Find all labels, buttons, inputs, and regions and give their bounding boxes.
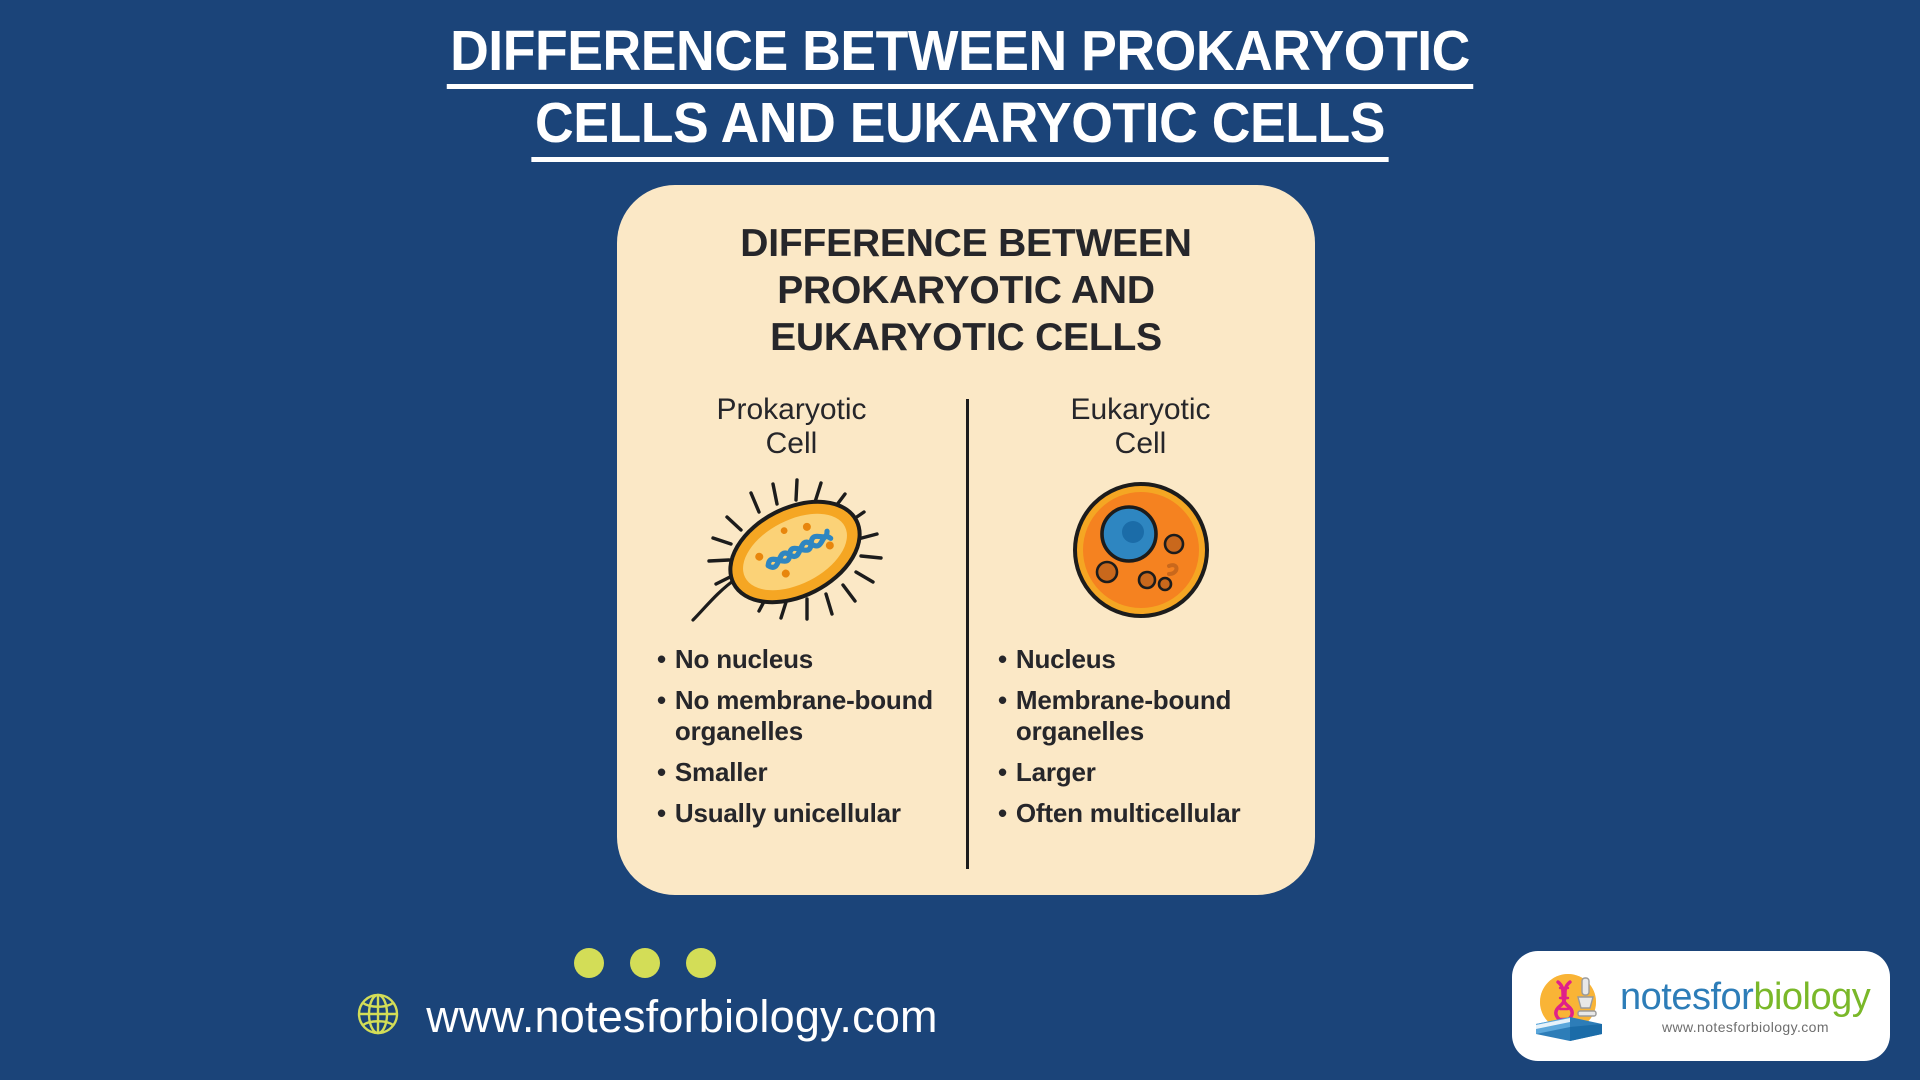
card-title-line-2: PROKARYOTIC AND [663, 267, 1269, 314]
logo-wordmark: notesforbiology www.notesforbiology.com [1620, 978, 1870, 1034]
list-item: • Membrane-bound organelles [998, 685, 1301, 745]
column-heading-line-2: Cell [1070, 427, 1210, 461]
dot-icon [686, 948, 716, 978]
list-item-label: Membrane-bound organelles [1016, 685, 1301, 745]
infographic-canvas: DIFFERENCE BETWEEN PROKARYOTIC CELLS AND… [0, 0, 1920, 1080]
column-prokaryotic: Prokaryotic Cell [617, 393, 966, 873]
card-title-line-1: DIFFERENCE BETWEEN [663, 220, 1269, 267]
bullet-list-eukaryotic: • Nucleus • Membrane-bound organelles • … [966, 644, 1315, 839]
bullet-dot-icon: • [998, 685, 1007, 715]
list-item: • Usually unicellular [657, 798, 952, 828]
bullet-dot-icon: • [998, 644, 1007, 674]
bullet-dot-icon: • [998, 757, 1007, 787]
column-heading-line-1: Prokaryotic [716, 393, 866, 427]
list-item: • No nucleus [657, 644, 952, 674]
comparison-columns: Prokaryotic Cell [617, 393, 1315, 873]
bullet-dot-icon: • [657, 685, 666, 715]
list-item-label: Larger [1016, 757, 1096, 787]
bullet-list-prokaryotic: • No nucleus • No membrane-bound organel… [617, 644, 966, 839]
list-item-label: Smaller [675, 757, 768, 787]
page-title: DIFFERENCE BETWEEN PROKARYOTIC CELLS AND… [58, 22, 1863, 162]
logo-subtext: www.notesforbiology.com [1662, 1020, 1870, 1034]
column-heading-line-1: Eukaryotic [1070, 393, 1210, 427]
brand-logo[interactable]: notesforbiology www.notesforbiology.com [1512, 951, 1890, 1061]
column-heading-eukaryotic: Eukaryotic Cell [1070, 393, 1210, 460]
comparison-card: DIFFERENCE BETWEEN PROKARYOTIC AND EUKAR… [617, 185, 1315, 895]
list-item-label: Usually unicellular [675, 798, 901, 828]
card-title: DIFFERENCE BETWEEN PROKARYOTIC AND EUKAR… [663, 220, 1269, 362]
logo-word-part-1: notesfor [1620, 976, 1753, 1018]
site-url-label[interactable]: www.notesforbiology.com [426, 991, 938, 1043]
page-title-line-2: CELLS AND EUKARYOTIC CELLS [531, 94, 1389, 161]
list-item: • Often multicellular [998, 798, 1301, 828]
decorative-dots [0, 948, 1290, 978]
logo-word-part-2: biology [1753, 976, 1870, 1018]
bullet-dot-icon: • [657, 757, 666, 787]
site-url-row: www.notesforbiology.com [0, 988, 1290, 1045]
column-heading-line-2: Cell [716, 427, 866, 461]
list-item-label: No nucleus [675, 644, 813, 674]
card-title-line-3: EUKARYOTIC CELLS [663, 314, 1269, 361]
bullet-dot-icon: • [657, 644, 666, 674]
column-heading-prokaryotic: Prokaryotic Cell [716, 393, 866, 460]
column-eukaryotic: Eukaryotic Cell [966, 393, 1315, 873]
list-item-label: No membrane-bound organelles [675, 685, 952, 745]
list-item-label: Nucleus [1016, 644, 1116, 674]
bacterium-illustration [677, 470, 907, 630]
list-item: • Larger [998, 757, 1301, 787]
list-item: • Smaller [657, 757, 952, 787]
bullet-dot-icon: • [657, 798, 666, 828]
list-item: • Nucleus [998, 644, 1301, 674]
logo-word: notesforbiology [1620, 978, 1870, 1016]
list-item-label: Often multicellular [1016, 798, 1240, 828]
dot-icon [630, 948, 660, 978]
page-title-line-1: DIFFERENCE BETWEEN PROKARYOTIC [446, 22, 1473, 89]
eukaryotic-cell-illustration [1061, 470, 1221, 630]
list-item: • No membrane-bound organelles [657, 685, 952, 745]
dot-icon [574, 948, 604, 978]
bullet-dot-icon: • [998, 798, 1007, 828]
dna-microscope-book-icon [1526, 964, 1610, 1048]
globe-icon [352, 988, 404, 1045]
